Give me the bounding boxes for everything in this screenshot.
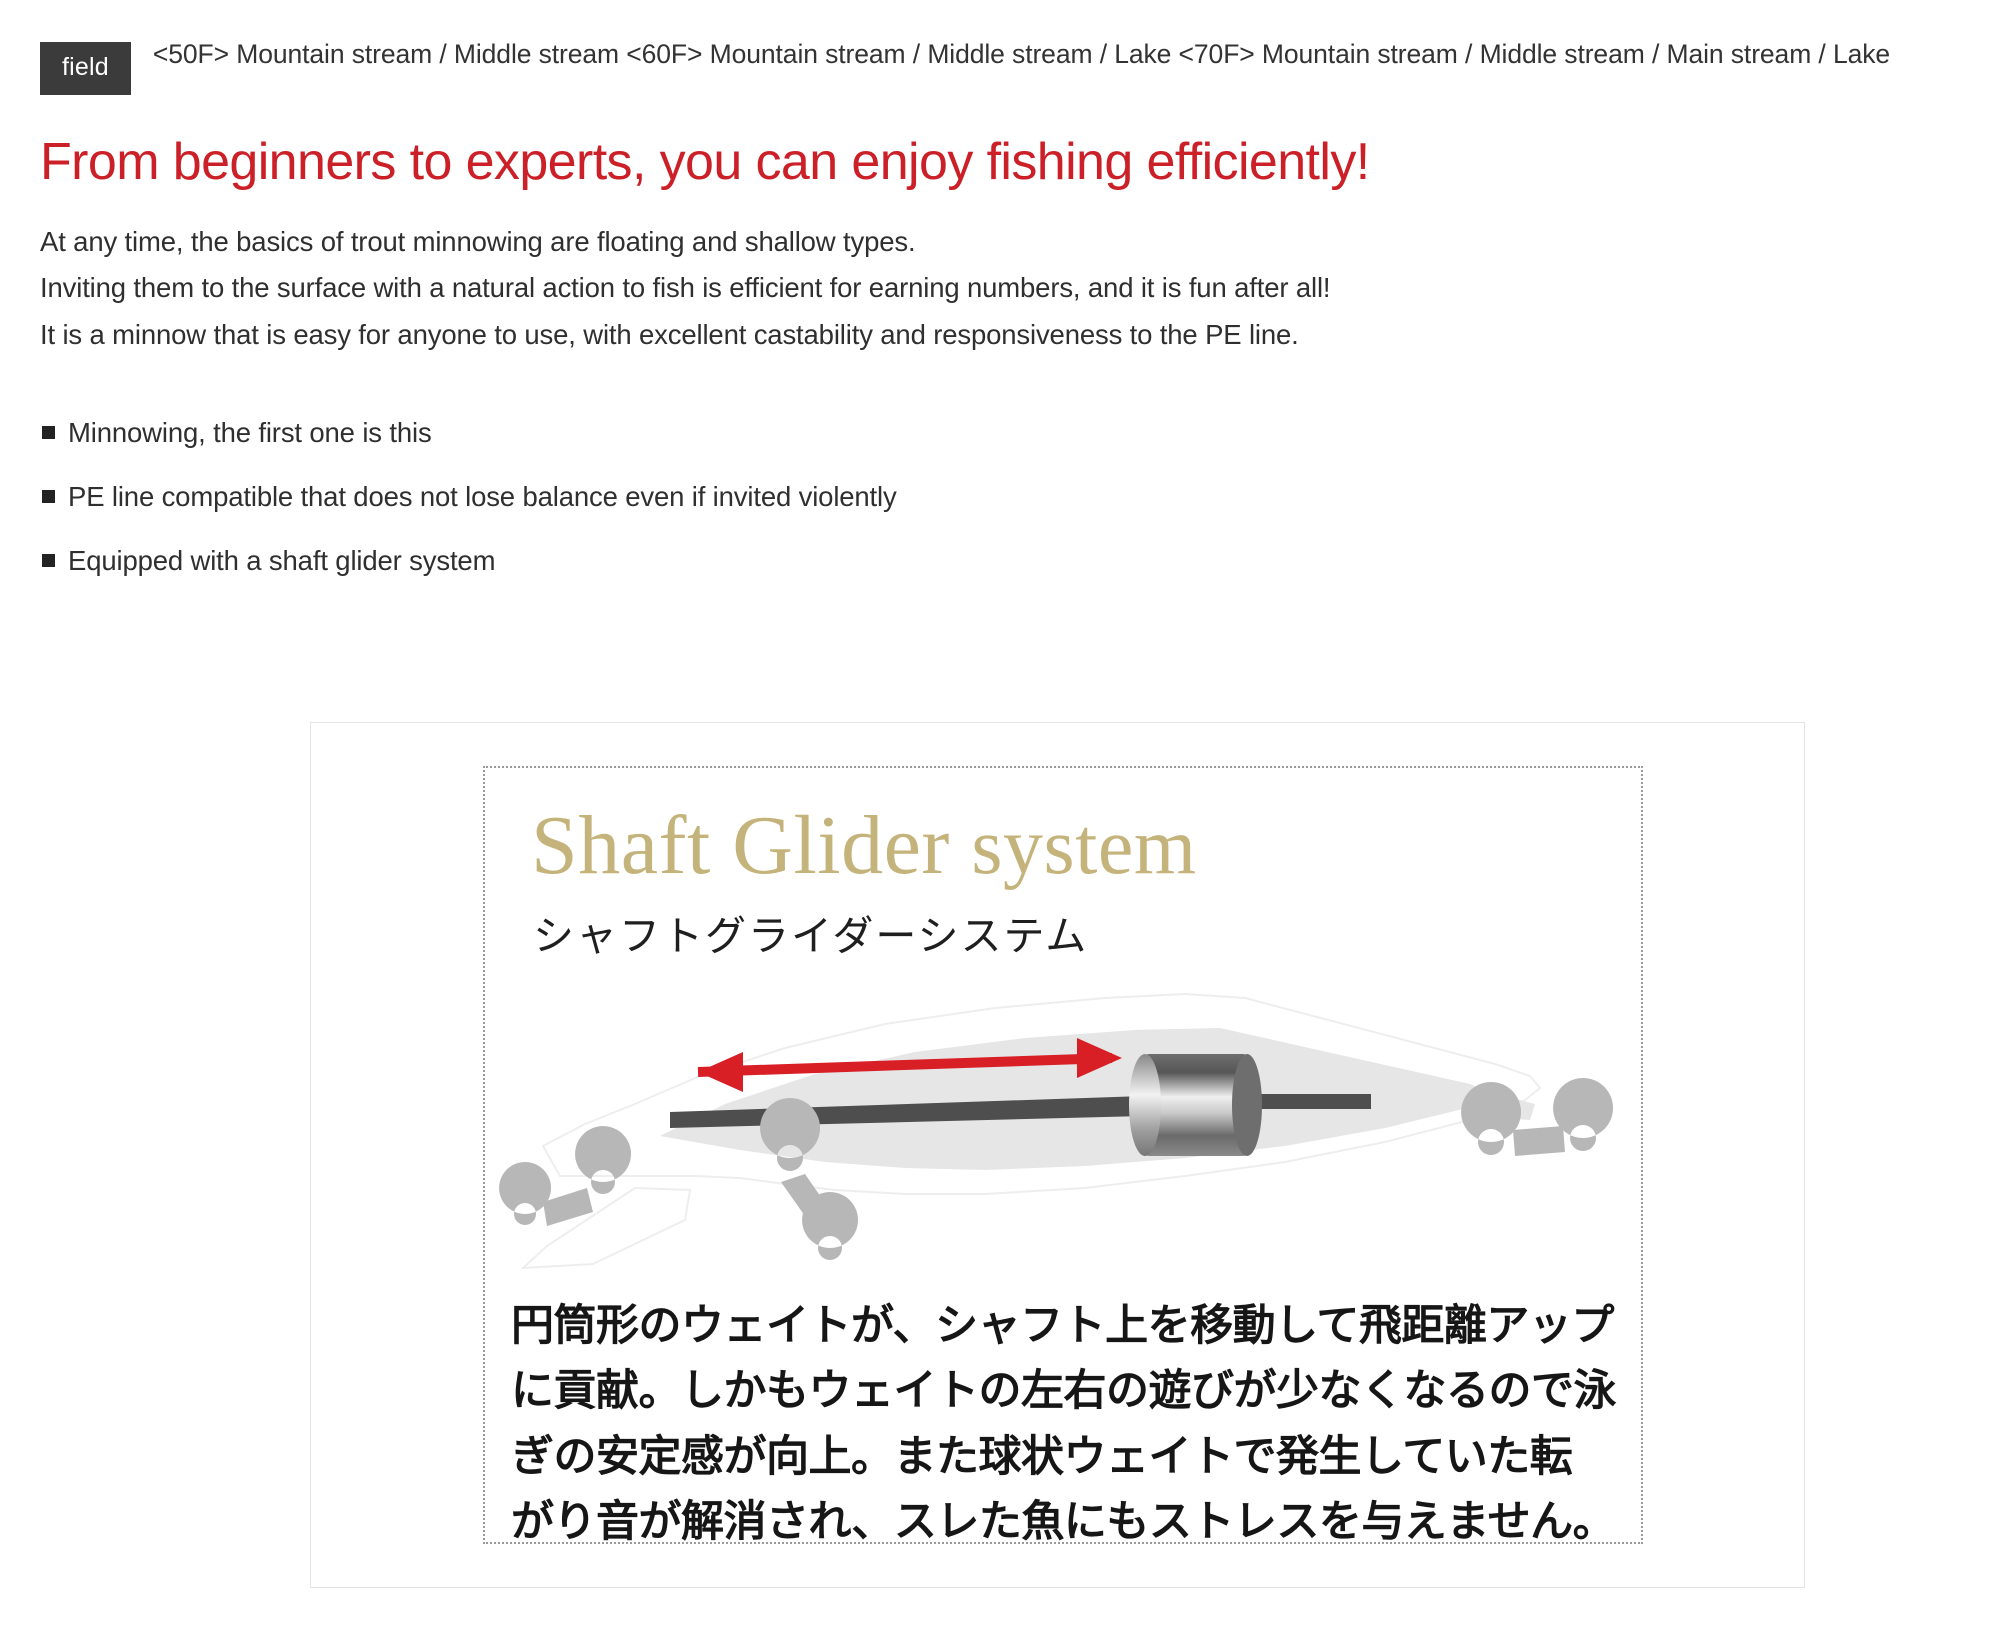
figure-description: 円筒形のウェイトが、シャフト上を移動して飛距離アップ に貢献。しかもウェイトの左… (511, 1294, 1641, 1555)
field-badge: field (40, 42, 131, 95)
list-item: PE line compatible that does not lose ba… (42, 480, 2000, 513)
lead-line-2: Inviting them to the surface with a natu… (40, 265, 2000, 311)
figure-title-bold: Shaft Glider (531, 799, 950, 892)
figure-subtitle: シャフトグライダーシステム (533, 902, 1641, 962)
figure-description-line: 円筒形のウェイトが、シャフト上を移動して飛距離アップ (511, 1294, 1641, 1359)
square-bullet-icon (42, 490, 55, 503)
lead-line-3: It is a minnow that is easy for anyone t… (40, 312, 2000, 358)
page-headline: From beginners to experts, you can enjoy… (40, 133, 2000, 191)
field-description-text: <50F> Mountain stream / Middle stream <6… (153, 36, 1960, 74)
feature-list: Minnowing, the first one is this PE line… (42, 416, 2000, 577)
square-bullet-icon (42, 426, 55, 439)
lead-paragraph: At any time, the basics of trout minnowi… (40, 219, 2000, 358)
list-item: Equipped with a shaft glider system (42, 544, 2000, 577)
list-item: Minnowing, the first one is this (42, 416, 2000, 449)
figure-panel: Shaft Glider system シャフトグライダーシステム (310, 722, 1805, 1588)
feature-label: Equipped with a shaft glider system (68, 544, 495, 577)
square-bullet-icon (42, 554, 55, 567)
figure-description-line: に貢献。しかもウェイトの左右の遊びが少なくなるので泳 (511, 1359, 1641, 1424)
field-row: field <50F> Mountain stream / Middle str… (0, 0, 2000, 95)
feature-label: Minnowing, the first one is this (68, 416, 432, 449)
figure-description-line: がり音が解消され、スレた魚にもストレスを与えません。 (511, 1490, 1641, 1555)
cylindrical-weight (1129, 1054, 1262, 1156)
figure-title-light: system (971, 803, 1196, 891)
figure-inner-frame: Shaft Glider system シャフトグライダーシステム (483, 766, 1643, 1544)
lure-diagram-svg (485, 976, 1645, 1276)
feature-label: PE line compatible that does not lose ba… (68, 480, 897, 513)
lead-line-1: At any time, the basics of trout minnowi… (40, 219, 2000, 265)
figure-description-line: ぎの安定感が向上。また球状ウェイトで発生していた転 (511, 1425, 1641, 1490)
figure-title: Shaft Glider system (531, 804, 1641, 888)
lure-diagram (485, 976, 1641, 1276)
